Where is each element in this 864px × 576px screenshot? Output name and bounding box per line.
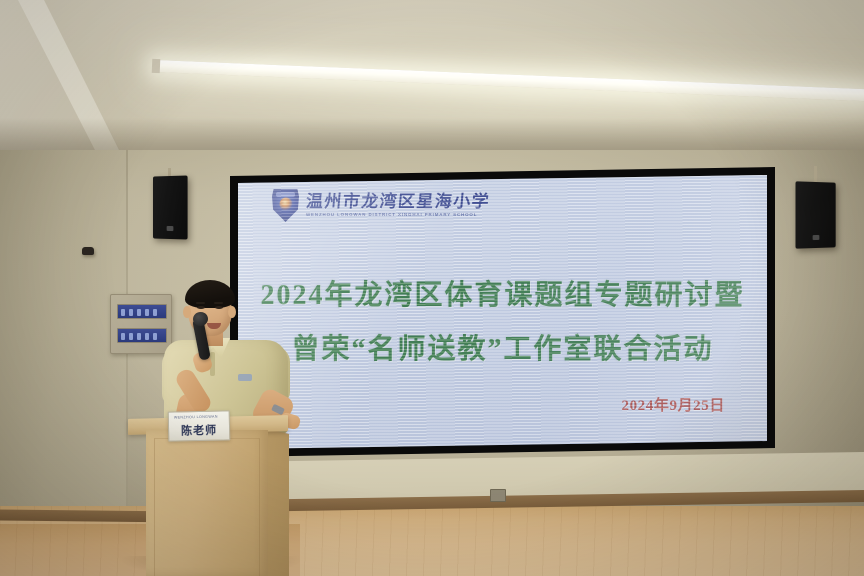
podium-side-panel [265, 428, 289, 576]
podium-name-card: WENZHOU LONGWAN 陈老师 [168, 410, 231, 441]
presenter-ear-right [228, 306, 236, 318]
presenter-eye-left [197, 306, 205, 309]
name-card-subtitle: WENZHOU LONGWAN [174, 414, 225, 420]
slide-content: 温州市龙湾区星海小学 WENZHOU LONGWAN DISTRICT XING… [238, 175, 767, 449]
control-button[interactable] [129, 309, 133, 316]
left-side-wall [0, 150, 128, 550]
speaker-right-icon [795, 181, 835, 248]
slide-school-header: 温州市龙湾区星海小学 WENZHOU LONGWAN DISTRICT XING… [272, 189, 490, 222]
wall-power-outlet-icon [490, 489, 506, 502]
speaker-brand-badge [813, 235, 820, 240]
control-button[interactable] [121, 309, 125, 316]
presenter-hair [185, 280, 235, 308]
control-button[interactable] [137, 309, 141, 316]
presenter-brow-right [214, 302, 223, 304]
name-card-name: 陈老师 [169, 421, 229, 438]
school-name-en: WENZHOU LONGWAN DISTRICT XINGHAI PRIMARY… [306, 213, 490, 217]
presenter-ear-left [183, 306, 191, 318]
podium-front-panel [146, 430, 268, 576]
light-strip-end-cap [152, 59, 161, 73]
school-name-block: 温州市龙湾区星海小学 WENZHOU LONGWAN DISTRICT XING… [306, 193, 490, 217]
presenter-brow-left [196, 302, 205, 304]
speaker-brand-badge [167, 226, 174, 231]
school-name-cn: 温州市龙湾区星海小学 [305, 193, 490, 210]
slide-date: 2024年9月25日 [621, 394, 725, 415]
control-button[interactable] [121, 333, 125, 340]
conference-room-photo: 温州市龙湾区星海小学 WENZHOU LONGWAN DISTRICT XING… [0, 0, 864, 576]
slide-title-line-1: 2024年龙湾区体育课题组专题研讨暨 [238, 273, 767, 313]
shirt-chest-logo [238, 374, 252, 381]
presenter-eye-right [215, 306, 223, 309]
wall-sensor-icon [82, 247, 94, 255]
projection-screen: 温州市龙湾区星海小学 WENZHOU LONGWAN DISTRICT XING… [238, 175, 767, 449]
control-button[interactable] [145, 333, 149, 340]
control-button[interactable] [145, 309, 149, 316]
speaker-left-icon [153, 175, 188, 239]
school-crest-icon [272, 189, 299, 222]
slide-title-line-2: 曾荣“名师送教”工作室联合活动 [238, 327, 767, 367]
control-button[interactable] [137, 333, 141, 340]
control-button[interactable] [129, 333, 133, 340]
